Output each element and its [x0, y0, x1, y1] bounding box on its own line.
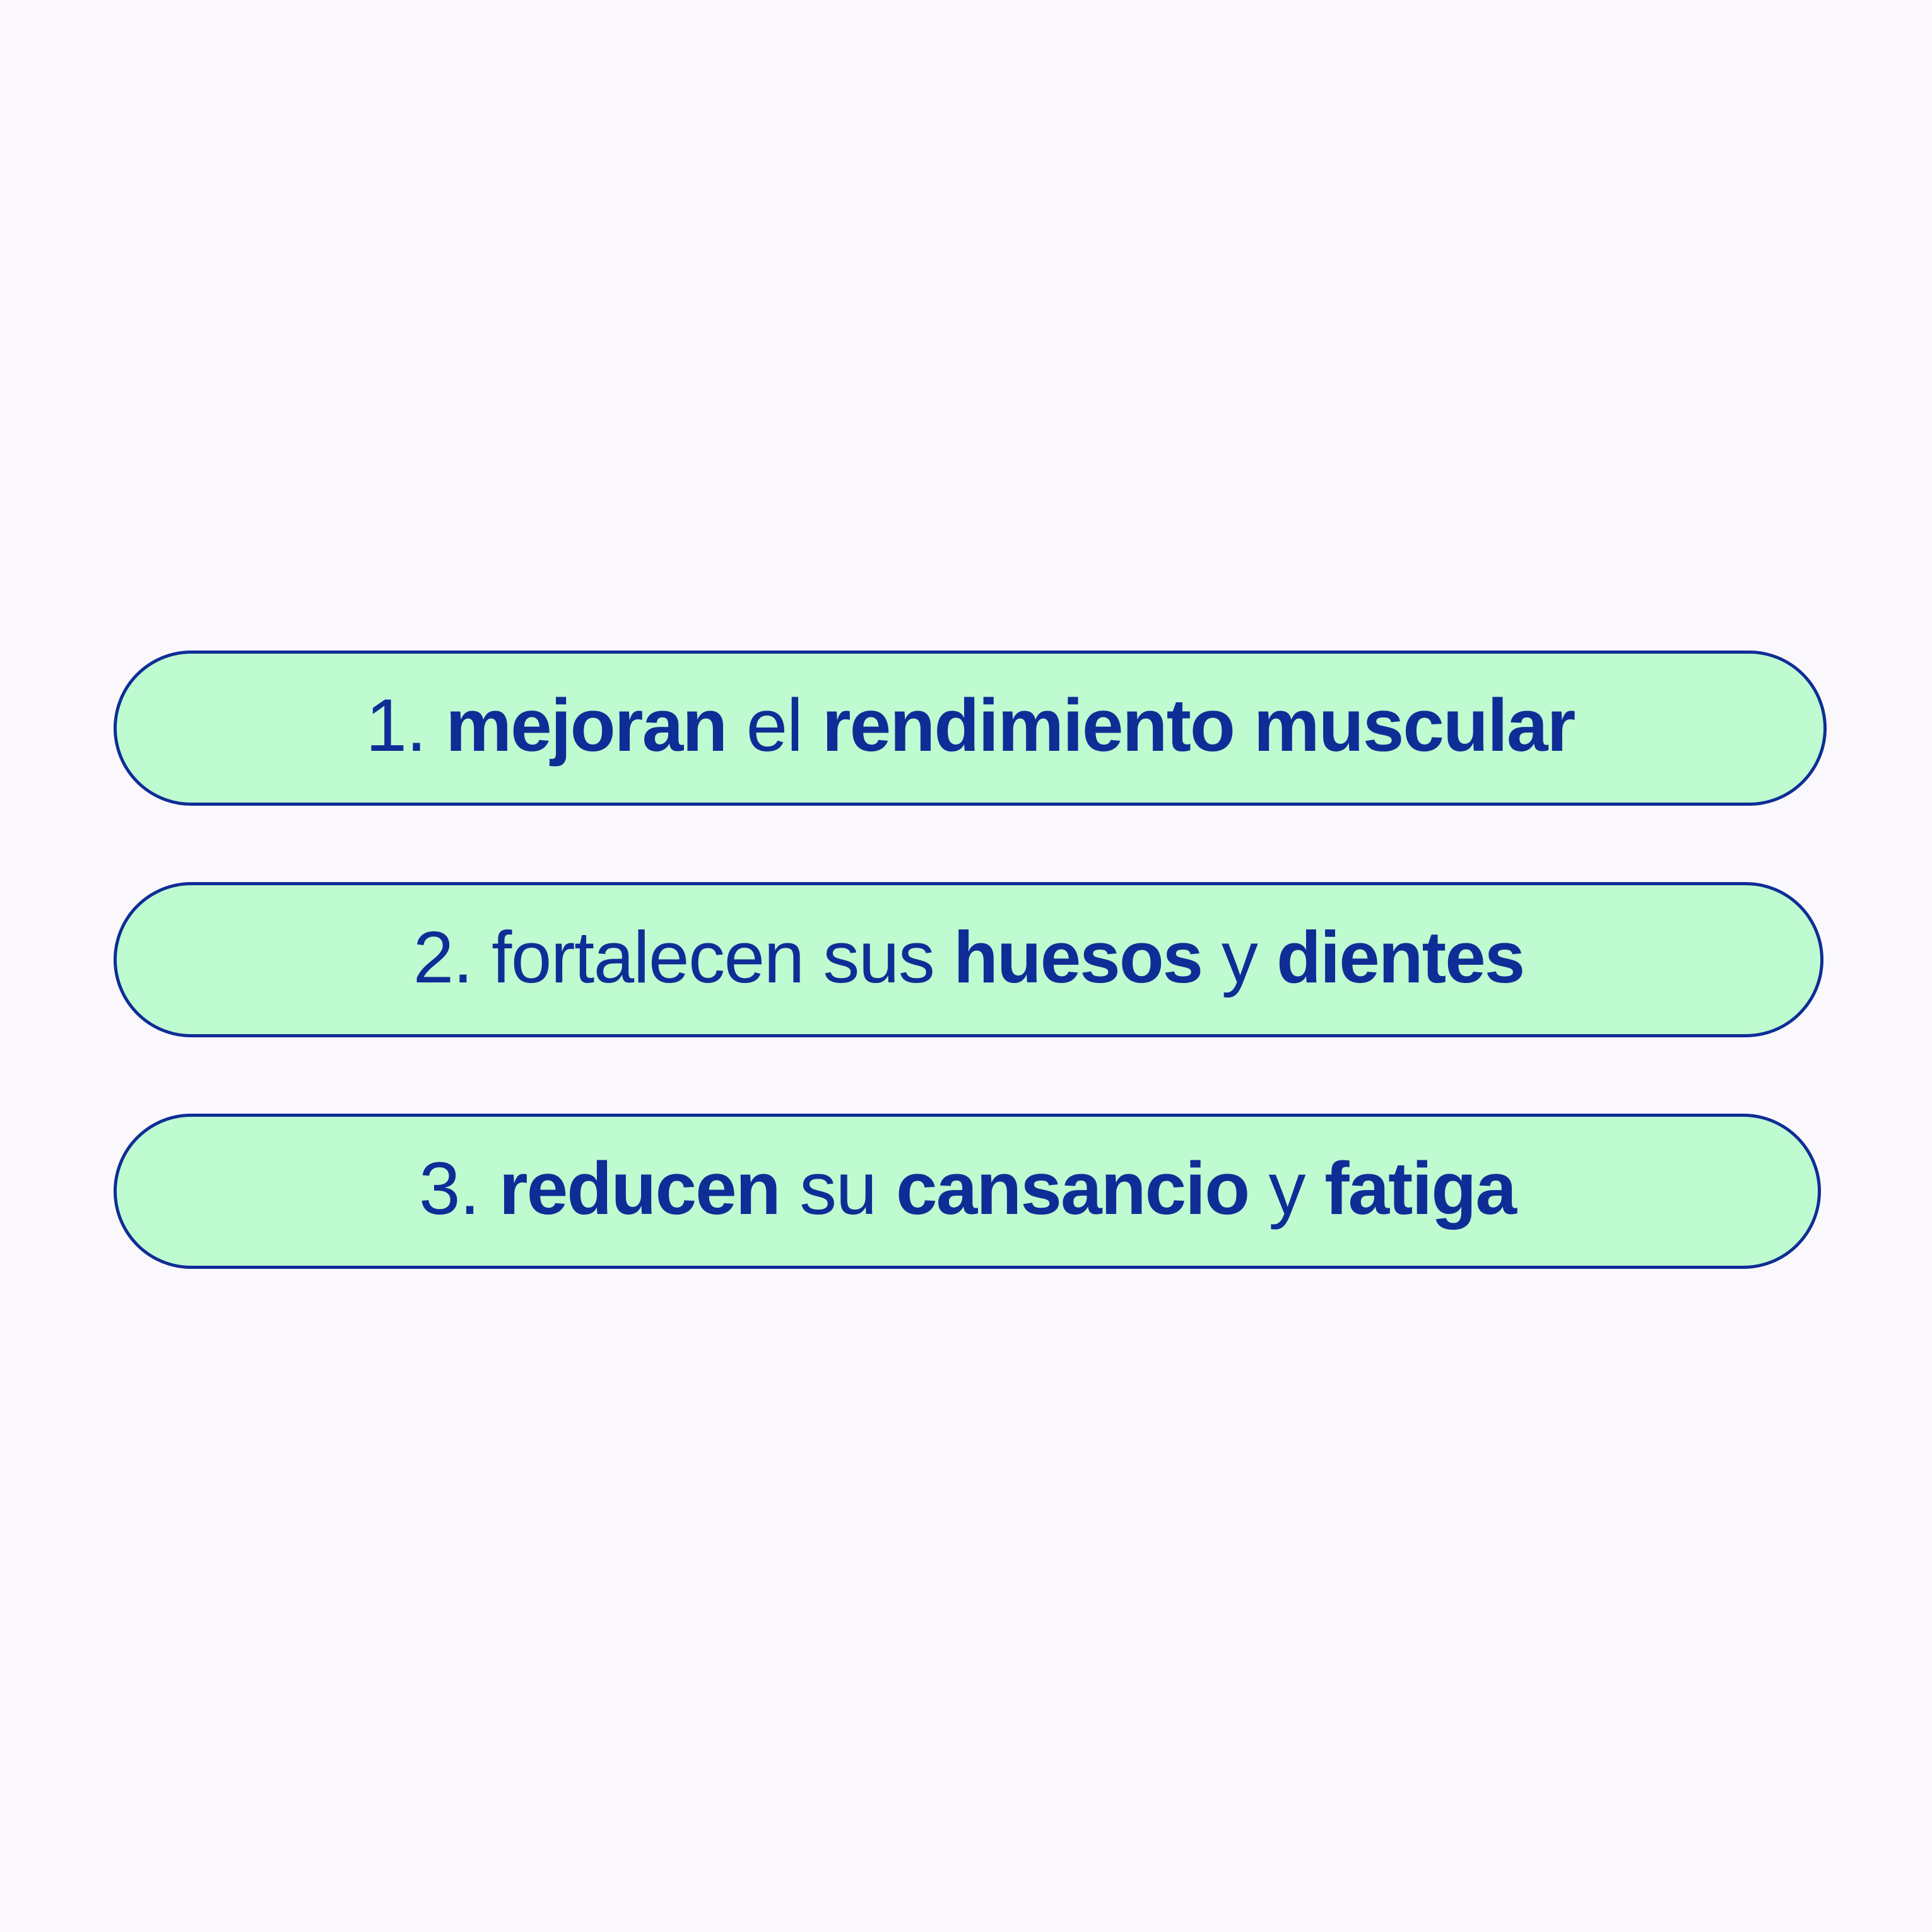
text-run-regular: el [726, 684, 822, 767]
text-run-bold: cansancio [896, 1147, 1249, 1230]
text-run-bold: fatiga [1324, 1147, 1516, 1230]
text-run-regular: 3. [419, 1147, 499, 1230]
list-item[interactable]: 3. reducen su cansancio y fatiga [114, 1114, 1821, 1269]
text-run-bold: dientes [1276, 916, 1524, 998]
list-item-text: 1. mejoran el rendimiento muscular [366, 688, 1575, 763]
list-item-text: 3. reducen su cansancio y fatiga [419, 1152, 1516, 1226]
list-item[interactable]: 2. fortalecen sus huesos y dientes [114, 882, 1823, 1037]
benefits-list: 1. mejoran el rendimiento muscular 2. fo… [114, 651, 1827, 1269]
list-item[interactable]: 1. mejoran el rendimiento muscular [114, 651, 1827, 806]
text-run-regular: y [1202, 916, 1276, 998]
text-run-bold: rendimiento muscular [822, 684, 1575, 767]
list-item-text: 2. fortalecen sus huesos y dientes [413, 921, 1524, 994]
text-run-regular: 2. fortalecen sus [413, 916, 953, 998]
text-run-regular: su [780, 1147, 896, 1230]
text-run-bold: mejoran [445, 684, 726, 767]
text-run-bold: huesos [953, 916, 1202, 998]
text-run-regular: 1. [366, 684, 446, 767]
text-run-regular: y [1249, 1147, 1324, 1230]
poster-canvas: 1. mejoran el rendimiento muscular 2. fo… [0, 0, 1932, 1932]
text-run-bold: reducen [499, 1147, 780, 1230]
